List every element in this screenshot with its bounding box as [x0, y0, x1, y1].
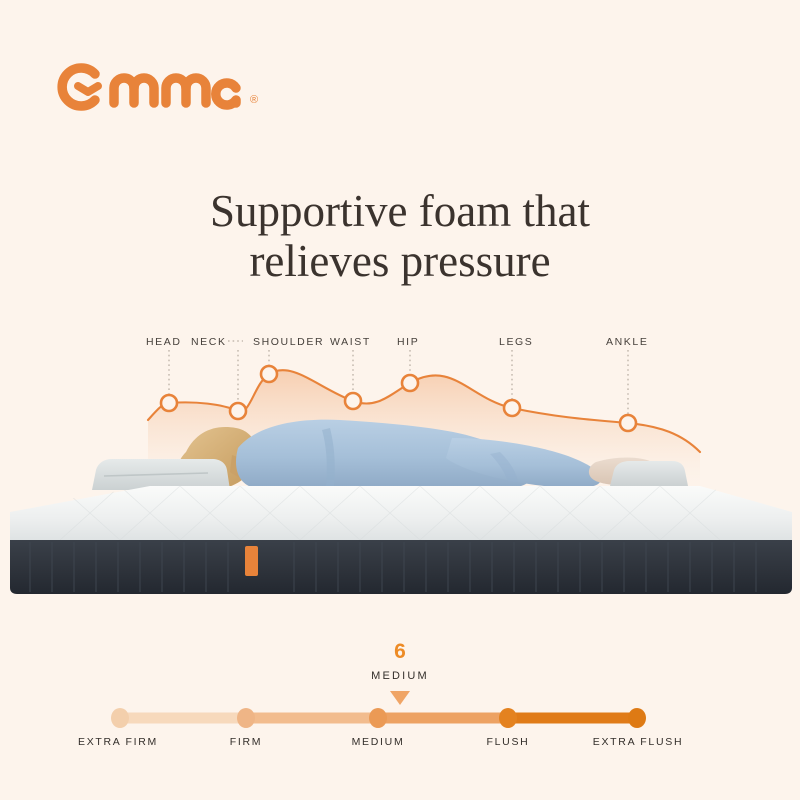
emma-wordmark-icon [52, 60, 248, 112]
scale-dot-medium[interactable] [369, 708, 387, 728]
scale-dot-extra-firm[interactable] [111, 708, 129, 728]
pressure-curve-chart: HEAD NECK SHOULDER WAIST HIP LEGS ANKLE [0, 320, 800, 620]
scale-label-extra-firm: EXTRA FIRM [78, 736, 158, 748]
scale-label-firm: FIRM [230, 736, 262, 748]
point-label-waist: WAIST [330, 336, 371, 348]
marker-ankle [620, 415, 636, 431]
point-label-legs: LEGS [499, 336, 533, 348]
point-label-hip: HIP [397, 336, 419, 348]
hero-illustration [0, 320, 800, 620]
firmness-pointer [0, 690, 800, 706]
scale-label-flush: FLUSH [487, 736, 530, 748]
mattress-base [10, 540, 792, 594]
point-label-ankle: ANKLE [606, 336, 648, 348]
infographic-canvas: ® Supportive foam that relieves pressure [0, 0, 800, 800]
registered-trademark: ® [250, 94, 258, 106]
scale-label-medium: MEDIUM [352, 736, 405, 748]
marker-waist [345, 393, 361, 409]
headline-line-2: relieves pressure [0, 236, 800, 286]
pillow-foot [610, 461, 688, 486]
triangle-down-icon [389, 690, 411, 706]
scale-label-extra-flush: EXTRA FLUSH [593, 736, 683, 748]
firmness-value: 6 [0, 640, 800, 664]
emma-brand-tab-icon [245, 546, 258, 576]
point-label-neck: NECK [191, 336, 227, 348]
marker-head [161, 395, 177, 411]
emma-logo: ® [52, 60, 258, 112]
marker-hip [402, 375, 418, 391]
point-label-shoulder: SHOULDER [253, 336, 324, 348]
firmness-gradient-bar[interactable] [0, 706, 800, 730]
firmness-scale[interactable]: 6 MEDIUM EXTRA FIRM FIRM MEDIU [0, 640, 800, 770]
marker-neck [230, 403, 246, 419]
page-title: Supportive foam that relieves pressure [0, 186, 800, 286]
headline-line-1: Supportive foam that [210, 186, 590, 236]
marker-legs [504, 400, 520, 416]
firmness-value-label: MEDIUM [0, 670, 800, 682]
scale-dot-flush[interactable] [499, 708, 517, 728]
point-label-head: HEAD [146, 336, 182, 348]
scale-dot-extra-flush[interactable] [628, 708, 646, 728]
marker-shoulder [261, 366, 277, 382]
mattress-top [10, 486, 792, 540]
scale-dot-firm[interactable] [237, 708, 255, 728]
